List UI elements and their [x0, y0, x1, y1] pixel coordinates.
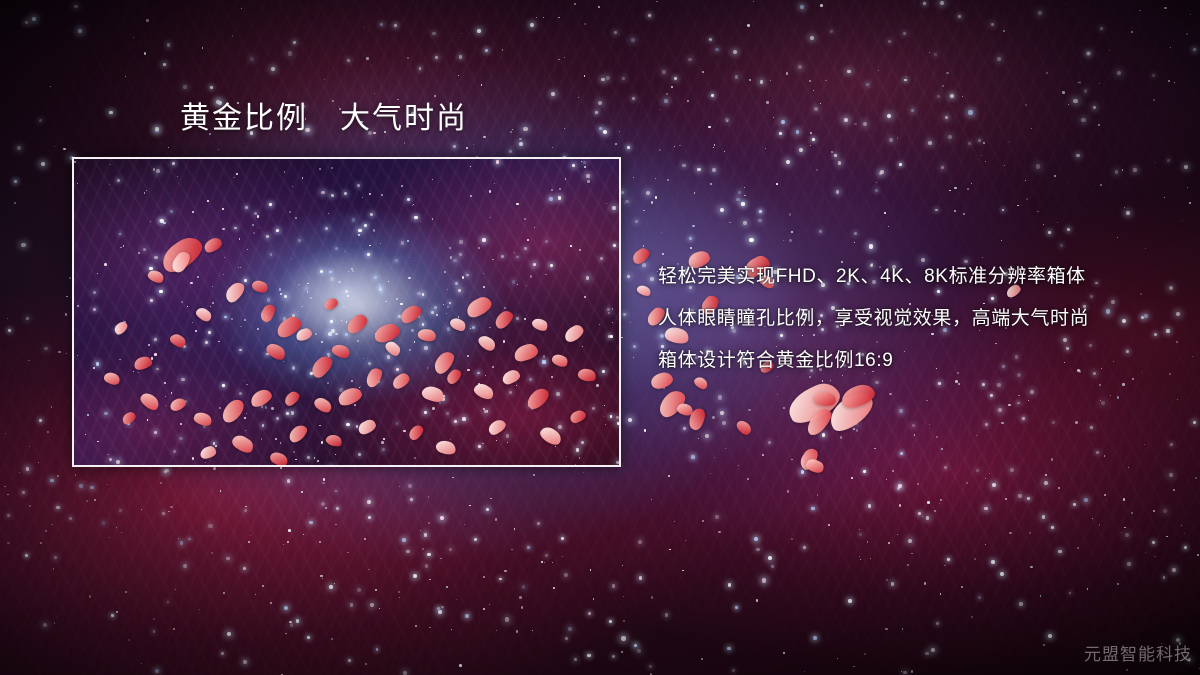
flower-petal	[264, 340, 288, 362]
flower-petal	[420, 384, 445, 405]
flower-petal	[312, 395, 334, 415]
flower-petal	[230, 432, 256, 456]
flower-petal	[194, 305, 213, 324]
flower-petal	[550, 352, 569, 369]
flower-petal	[363, 366, 385, 390]
flower-petal	[344, 312, 370, 336]
flower-petal	[569, 408, 588, 424]
flower-petal	[486, 417, 508, 436]
flower-petal	[512, 342, 539, 363]
flower-petal	[199, 445, 218, 460]
flower-petal	[286, 422, 310, 445]
flower-petal	[248, 387, 274, 410]
page-title: 黄金比例 大气时尚	[180, 101, 468, 137]
flower-petal	[146, 268, 165, 285]
flower-petal	[282, 389, 301, 408]
body-line-3: 箱体设计符合黄金比例16:9	[658, 340, 1089, 382]
flower-petal	[268, 449, 290, 467]
flower-petal	[492, 308, 516, 331]
flower-petal	[448, 316, 467, 334]
framed-galaxy-image	[72, 157, 621, 467]
body-line-1: 轻松完美实现FHD、2K、4K、8K标准分辨率箱体	[658, 256, 1089, 298]
flower-petal	[192, 410, 213, 428]
flower-petal	[251, 278, 270, 294]
flower-petal	[102, 370, 121, 387]
star	[244, 465, 245, 466]
flower-petal	[372, 321, 402, 345]
watermark-label: 元盟智能科技	[1084, 640, 1192, 665]
flower-petal	[390, 371, 412, 391]
flower-petal	[169, 397, 188, 413]
flower-petal	[476, 333, 498, 354]
flower-petal	[133, 355, 153, 371]
flower-petal	[472, 381, 496, 402]
flower-petal	[538, 424, 564, 448]
flower-petal	[562, 323, 586, 345]
flower-petal	[524, 385, 552, 412]
flower-petal	[383, 339, 402, 358]
flower-petal	[530, 316, 549, 333]
flower-petal	[330, 342, 351, 361]
panel-petal-field	[74, 159, 619, 465]
body-line-2: 人体眼睛瞳孔比例，享受视觉效果，高端大气时尚	[658, 298, 1089, 340]
flower-petal	[308, 353, 336, 380]
flower-petal	[406, 423, 425, 442]
flower-petal	[218, 396, 247, 426]
slide-canvas: 黄金比例 大气时尚 轻松完美实现FHD、2K、4K、8K标准分辨率箱体 人体眼睛…	[0, 0, 1200, 675]
flower-petal	[168, 331, 187, 349]
flower-petal	[325, 432, 344, 448]
flower-petal	[434, 438, 457, 457]
flower-petal	[258, 302, 277, 324]
star	[329, 466, 333, 467]
flower-petal	[322, 296, 339, 311]
flower-petal	[336, 385, 364, 408]
flower-petal	[138, 390, 162, 413]
flower-petal	[577, 367, 597, 383]
body-text-block: 轻松完美实现FHD、2K、4K、8K标准分辨率箱体 人体眼睛瞳孔比例，享受视觉效…	[658, 256, 1089, 382]
flower-petal	[417, 327, 438, 344]
flower-petal	[464, 294, 494, 320]
flower-petal	[112, 320, 129, 336]
flower-petal	[356, 418, 377, 437]
flower-petal	[120, 410, 137, 426]
flower-petal	[398, 302, 424, 325]
flower-petal	[222, 279, 247, 305]
star	[240, 466, 243, 467]
flower-petal	[202, 236, 223, 254]
flower-petal	[500, 368, 521, 386]
